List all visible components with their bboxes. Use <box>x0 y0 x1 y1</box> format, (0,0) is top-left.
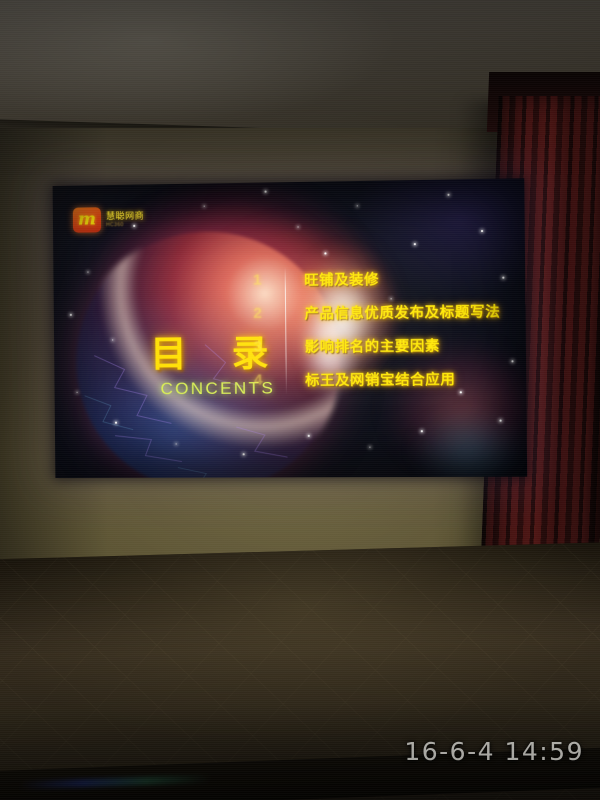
list-item-number: 2 <box>245 305 270 322</box>
photograph: m 慧聪网商 HC360 目 录 CONCENTS 1 旺铺及装修 2 产品信息… <box>0 0 600 800</box>
projection-screen: m 慧聪网商 HC360 目 录 CONCENTS 1 旺铺及装修 2 产品信息… <box>53 178 528 478</box>
list-item-number: 1 <box>245 271 270 288</box>
logo-mark-icon: m <box>73 207 101 232</box>
list-item-number: 3 <box>246 338 271 355</box>
logo-mark-glyph: m <box>78 211 96 228</box>
list-item-label: 影响排名的主要因素 <box>305 335 440 356</box>
list-item: 3 影响排名的主要因素 <box>246 328 514 364</box>
list-item: 4 标王及网销宝结合应用 <box>246 361 514 396</box>
logo-subtext: HC360 <box>106 221 144 228</box>
logo-text: 慧聪网商 <box>106 211 144 222</box>
agenda-list: 1 旺铺及装修 2 产品信息优质发布及标题写法 3 影响排名的主要因素 4 标王… <box>245 260 514 397</box>
list-item-label: 旺铺及装修 <box>304 268 379 289</box>
list-item: 2 产品信息优质发布及标题写法 <box>245 294 513 330</box>
list-item-number: 4 <box>246 371 271 388</box>
list-item: 1 旺铺及装修 <box>245 260 513 297</box>
company-logo: m 慧聪网商 HC360 <box>73 207 145 233</box>
camera-timestamp: 16-6-4 14:59 <box>404 737 584 766</box>
list-item-label: 产品信息优质发布及标题写法 <box>304 301 500 323</box>
list-item-label: 标王及网销宝结合应用 <box>305 368 456 389</box>
